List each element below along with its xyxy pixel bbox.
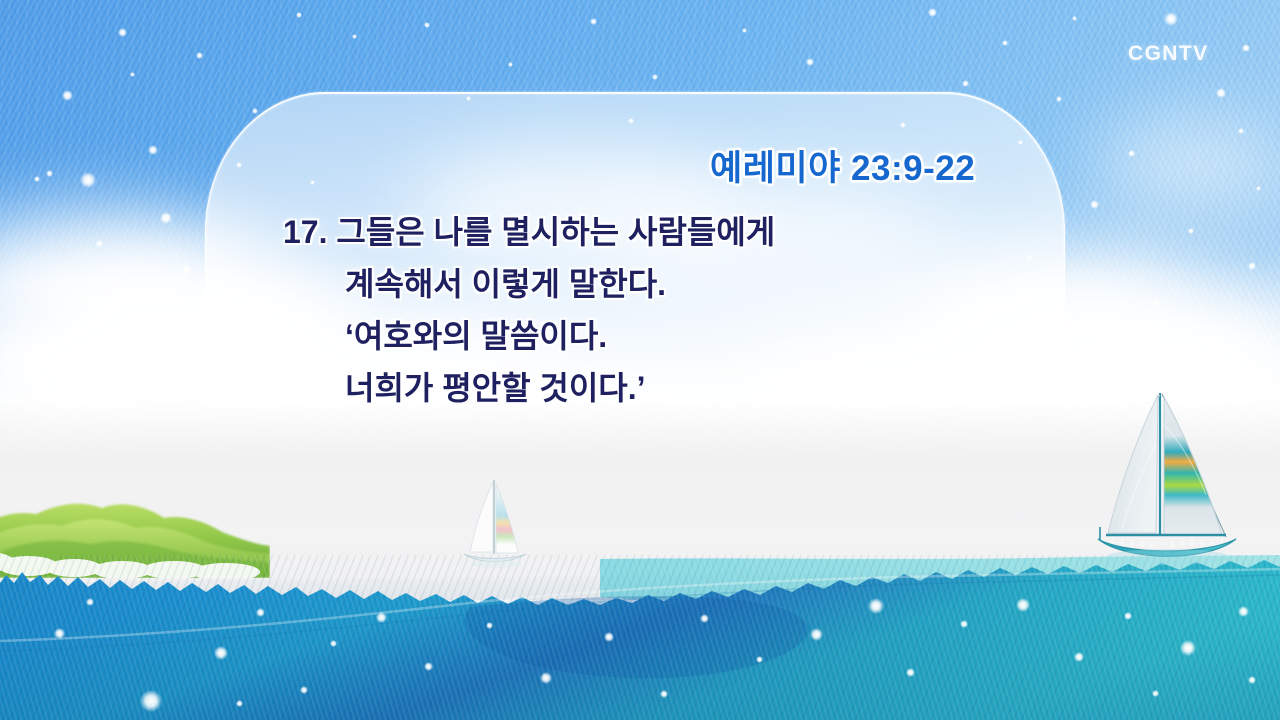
large-sailboat	[1086, 385, 1262, 575]
sea-pencil-texture	[0, 555, 1280, 720]
verse-line-3: ‘여호와의 말씀이다.	[283, 310, 983, 362]
verse-text-block: 17. 그들은 나를 멸시하는 사람들에게 계속해서 이렇게 말한다. ‘여호와…	[283, 206, 983, 414]
scripture-reference: 예레미야 23:9-22	[710, 140, 975, 191]
verse-line-4: 너희가 평안할 것이다.’	[283, 362, 983, 414]
small-sailboat	[452, 472, 536, 570]
verse-line-1: 17. 그들은 나를 멸시하는 사람들에게	[283, 206, 983, 258]
cgntv-logo: CGNTV	[1128, 42, 1209, 66]
verse-line-2: 계속해서 이렇게 말한다.	[283, 258, 983, 310]
broadcast-scripture-slide: 예레미야 23:9-22 17. 그들은 나를 멸시하는 사람들에게 계속해서 …	[0, 0, 1280, 720]
